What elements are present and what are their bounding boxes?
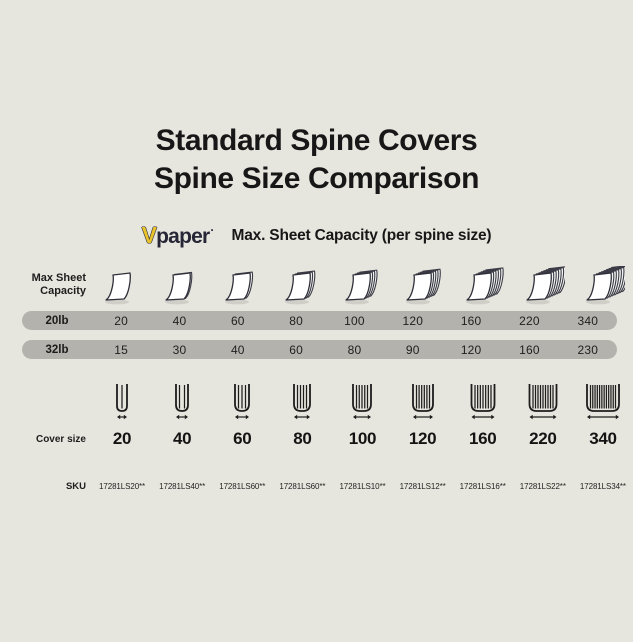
logo-wordmark: paper — [156, 226, 209, 247]
cover-size-60: 60 — [212, 429, 272, 449]
sku-80: 17281LS60** — [272, 482, 332, 491]
spine-icon-cell-160 — [453, 379, 513, 423]
weight-row-32lb: 32lb 153040608090120160230 — [22, 340, 617, 359]
weight-label-32lb: 32lb — [22, 344, 92, 356]
sku-340: 17281LS34** — [573, 482, 633, 491]
capacity-20lb-80: 80 — [267, 314, 325, 328]
capacity-32lb-40: 30 — [150, 343, 208, 357]
sku-row: SKU 17281LS20**17281LS40**17281LS60**172… — [0, 477, 633, 495]
paper-stack-cell-20 — [92, 260, 152, 310]
paper-stack-cell-80 — [272, 260, 332, 310]
spine-width-icon — [393, 379, 453, 423]
spine-comparison-table: Max Sheet Capacity 20lb 2040608010012016… — [0, 259, 633, 495]
spine-width-icon — [573, 379, 633, 423]
paper-stack-icon — [513, 260, 573, 310]
title-line-2: Spine Size Comparison — [0, 160, 633, 198]
cover-size-120: 120 — [393, 429, 453, 449]
capacity-20lb-120: 120 — [384, 314, 442, 328]
sku-40: 17281LS40** — [152, 482, 212, 491]
spine-icon-cell-100 — [332, 379, 392, 423]
capacity-20lb-340: 340 — [559, 314, 617, 328]
spine-width-icon — [92, 379, 152, 423]
page-title: Standard Spine Covers Spine Size Compari… — [0, 0, 633, 198]
spine-icon-cell-60 — [212, 379, 272, 423]
paper-stack-cell-40 — [152, 260, 212, 310]
capacity-32lb-220: 160 — [500, 343, 558, 357]
cover-size-160: 160 — [453, 429, 513, 449]
paper-stack-icon — [152, 260, 212, 310]
capacity-32lb-340: 230 — [559, 343, 617, 357]
paper-stack-cell-60 — [212, 260, 272, 310]
cover-size-20: 20 — [92, 429, 152, 449]
paper-stack-cell-160 — [453, 260, 513, 310]
cover-size-80: 80 — [272, 429, 332, 449]
capacity-32lb-20: 15 — [92, 343, 150, 357]
weight-row-20lb: 20lb 20406080100120160220340 — [22, 311, 617, 330]
max-sheet-capacity-label-line2: Capacity — [0, 285, 86, 299]
capacity-20lb-160: 160 — [442, 314, 500, 328]
logo-v-mark: V — [142, 224, 157, 247]
capacity-32lb-60: 40 — [209, 343, 267, 357]
max-sheet-capacity-label-line1: Max Sheet — [0, 272, 86, 286]
sku-160: 17281LS16** — [453, 482, 513, 491]
spine-icon-cell-80 — [272, 379, 332, 423]
spine-width-icon — [332, 379, 392, 423]
sku-120: 17281LS12** — [393, 482, 453, 491]
paper-stack-cell-120 — [393, 260, 453, 310]
capacity-20lb-60: 60 — [209, 314, 267, 328]
spine-icon-cell-340 — [573, 379, 633, 423]
capacity-20lb-100: 100 — [325, 314, 383, 328]
capacity-caption: Max. Sheet Capacity (per spine size) — [232, 227, 492, 245]
paper-stack-icon — [393, 260, 453, 310]
paper-stack-cell-340 — [573, 260, 633, 310]
capacity-32lb-80: 60 — [267, 343, 325, 357]
subheader: Vpaper· Max. Sheet Capacity (per spine s… — [0, 224, 633, 247]
vpaper-logo: Vpaper· — [142, 224, 214, 247]
sku-label: SKU — [0, 480, 92, 493]
weight-label-20lb: 20lb — [22, 315, 92, 327]
capacity-20lb-20: 20 — [92, 314, 150, 328]
max-sheet-capacity-label: Max Sheet Capacity — [0, 272, 92, 299]
cover-size-220: 220 — [513, 429, 573, 449]
spine-icon-cell-220 — [513, 379, 573, 423]
capacity-20lb-40: 40 — [150, 314, 208, 328]
paper-stack-cell-100 — [332, 260, 392, 310]
logo-registered-dot: · — [210, 224, 213, 236]
cover-size-40: 40 — [152, 429, 212, 449]
cover-size-340: 340 — [573, 429, 633, 449]
sku-20: 17281LS20** — [92, 482, 152, 491]
cover-size-row: Cover size 20406080100120160220340 — [0, 427, 633, 451]
paper-stack-cell-220 — [513, 260, 573, 310]
paper-stack-icon — [92, 260, 152, 310]
capacity-32lb-120: 90 — [384, 343, 442, 357]
cover-size-label: Cover size — [0, 433, 92, 446]
spine-icon-cell-40 — [152, 379, 212, 423]
spine-icon-cell-20 — [92, 379, 152, 423]
title-line-1: Standard Spine Covers — [0, 122, 633, 160]
paper-stack-row: Max Sheet Capacity — [0, 259, 633, 311]
spine-width-icon — [513, 379, 573, 423]
paper-stack-icon — [573, 260, 633, 310]
paper-stack-icon — [212, 260, 272, 310]
sku-220: 17281LS22** — [513, 482, 573, 491]
paper-stack-icon — [332, 260, 392, 310]
spine-width-icon — [152, 379, 212, 423]
capacity-32lb-100: 80 — [325, 343, 383, 357]
spine-icon-cell-120 — [393, 379, 453, 423]
capacity-20lb-220: 220 — [500, 314, 558, 328]
sku-100: 17281LS10** — [332, 482, 392, 491]
spine-icon-row — [0, 377, 633, 425]
spine-width-icon — [453, 379, 513, 423]
cover-size-100: 100 — [332, 429, 392, 449]
paper-stack-icon — [272, 260, 332, 310]
sku-60: 17281LS60** — [212, 482, 272, 491]
paper-stack-icon — [453, 260, 513, 310]
spine-width-icon — [212, 379, 272, 423]
capacity-32lb-160: 120 — [442, 343, 500, 357]
spine-width-icon — [272, 379, 332, 423]
